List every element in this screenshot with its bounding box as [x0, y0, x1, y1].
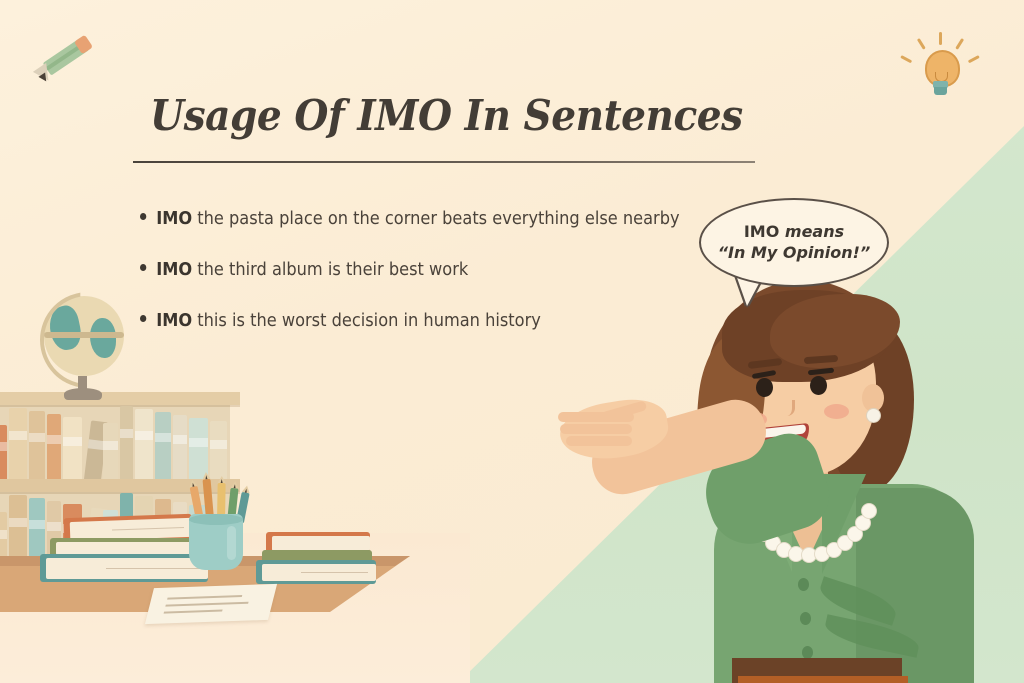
pencil-icon [37, 33, 99, 85]
list-item-keyword: IMO [156, 259, 192, 280]
bullet-dot-icon [140, 315, 146, 322]
eye-right [810, 376, 827, 395]
shelf-book [9, 408, 27, 479]
shelf-book [29, 411, 45, 479]
lightbulb-icon [908, 34, 972, 96]
shelf-book [47, 414, 61, 479]
globe-base [64, 388, 102, 400]
bullet-dot-icon [140, 213, 146, 220]
speech-bubble-line-1: IMO means [744, 222, 844, 242]
list-item-text: the third album is their best work [197, 259, 468, 280]
shelf-book [103, 423, 118, 479]
cheek-right [824, 404, 849, 419]
book-stack-left [40, 516, 210, 580]
poster-canvas: Usage Of IMO In Sentences IMO the pasta … [0, 0, 1024, 683]
shelf-book [189, 418, 208, 479]
shelf-book [135, 409, 153, 479]
finger-3 [566, 436, 632, 446]
page-title: Usage Of IMO In Sentences [150, 91, 743, 140]
book-teal-2 [256, 560, 376, 584]
speech-bubble-line-2: “In My Opinion!” [718, 243, 871, 263]
bulb-ray-1 [939, 32, 942, 45]
list-item-text: this is the worst decision in human hist… [197, 310, 541, 331]
pearl-bead [861, 503, 877, 519]
list-item-keyword: IMO [156, 310, 192, 331]
eye-left [756, 378, 773, 397]
cardigan-button-1 [798, 578, 809, 591]
speech-bubble-line-1-rest: means [785, 222, 844, 241]
book-teal [40, 554, 208, 582]
title-underline [133, 161, 755, 163]
shelf-book [155, 412, 171, 479]
pencil-cup [189, 514, 243, 570]
globe-icon [28, 292, 134, 400]
speech-bubble-keyword: IMO [744, 222, 779, 241]
shelf-books-top-row [0, 405, 227, 479]
shelf-book [120, 406, 133, 479]
list-item: IMO the pasta place on the corner beats … [140, 208, 680, 229]
list-item-keyword: IMO [156, 208, 192, 229]
book-stack-right [256, 532, 378, 582]
bulb-ray-2 [917, 38, 926, 50]
bulb-base [934, 87, 947, 95]
shelf-book [173, 415, 187, 479]
woman-illustration [556, 272, 1024, 683]
bulb-ray-3 [955, 38, 964, 50]
earring [866, 408, 881, 423]
cardigan-button-2 [800, 612, 811, 625]
shelf-book [0, 425, 7, 479]
shelf-book [63, 417, 82, 479]
shelf-book [210, 421, 227, 479]
speech-bubble: IMO means “In My Opinion!” [699, 198, 889, 287]
finger-2 [560, 424, 632, 434]
skirt [738, 676, 908, 683]
bullet-dot-icon [140, 264, 146, 271]
paper-sheet-illustration [145, 584, 277, 624]
list-item-text: the pasta place on the corner beats ever… [197, 208, 679, 229]
